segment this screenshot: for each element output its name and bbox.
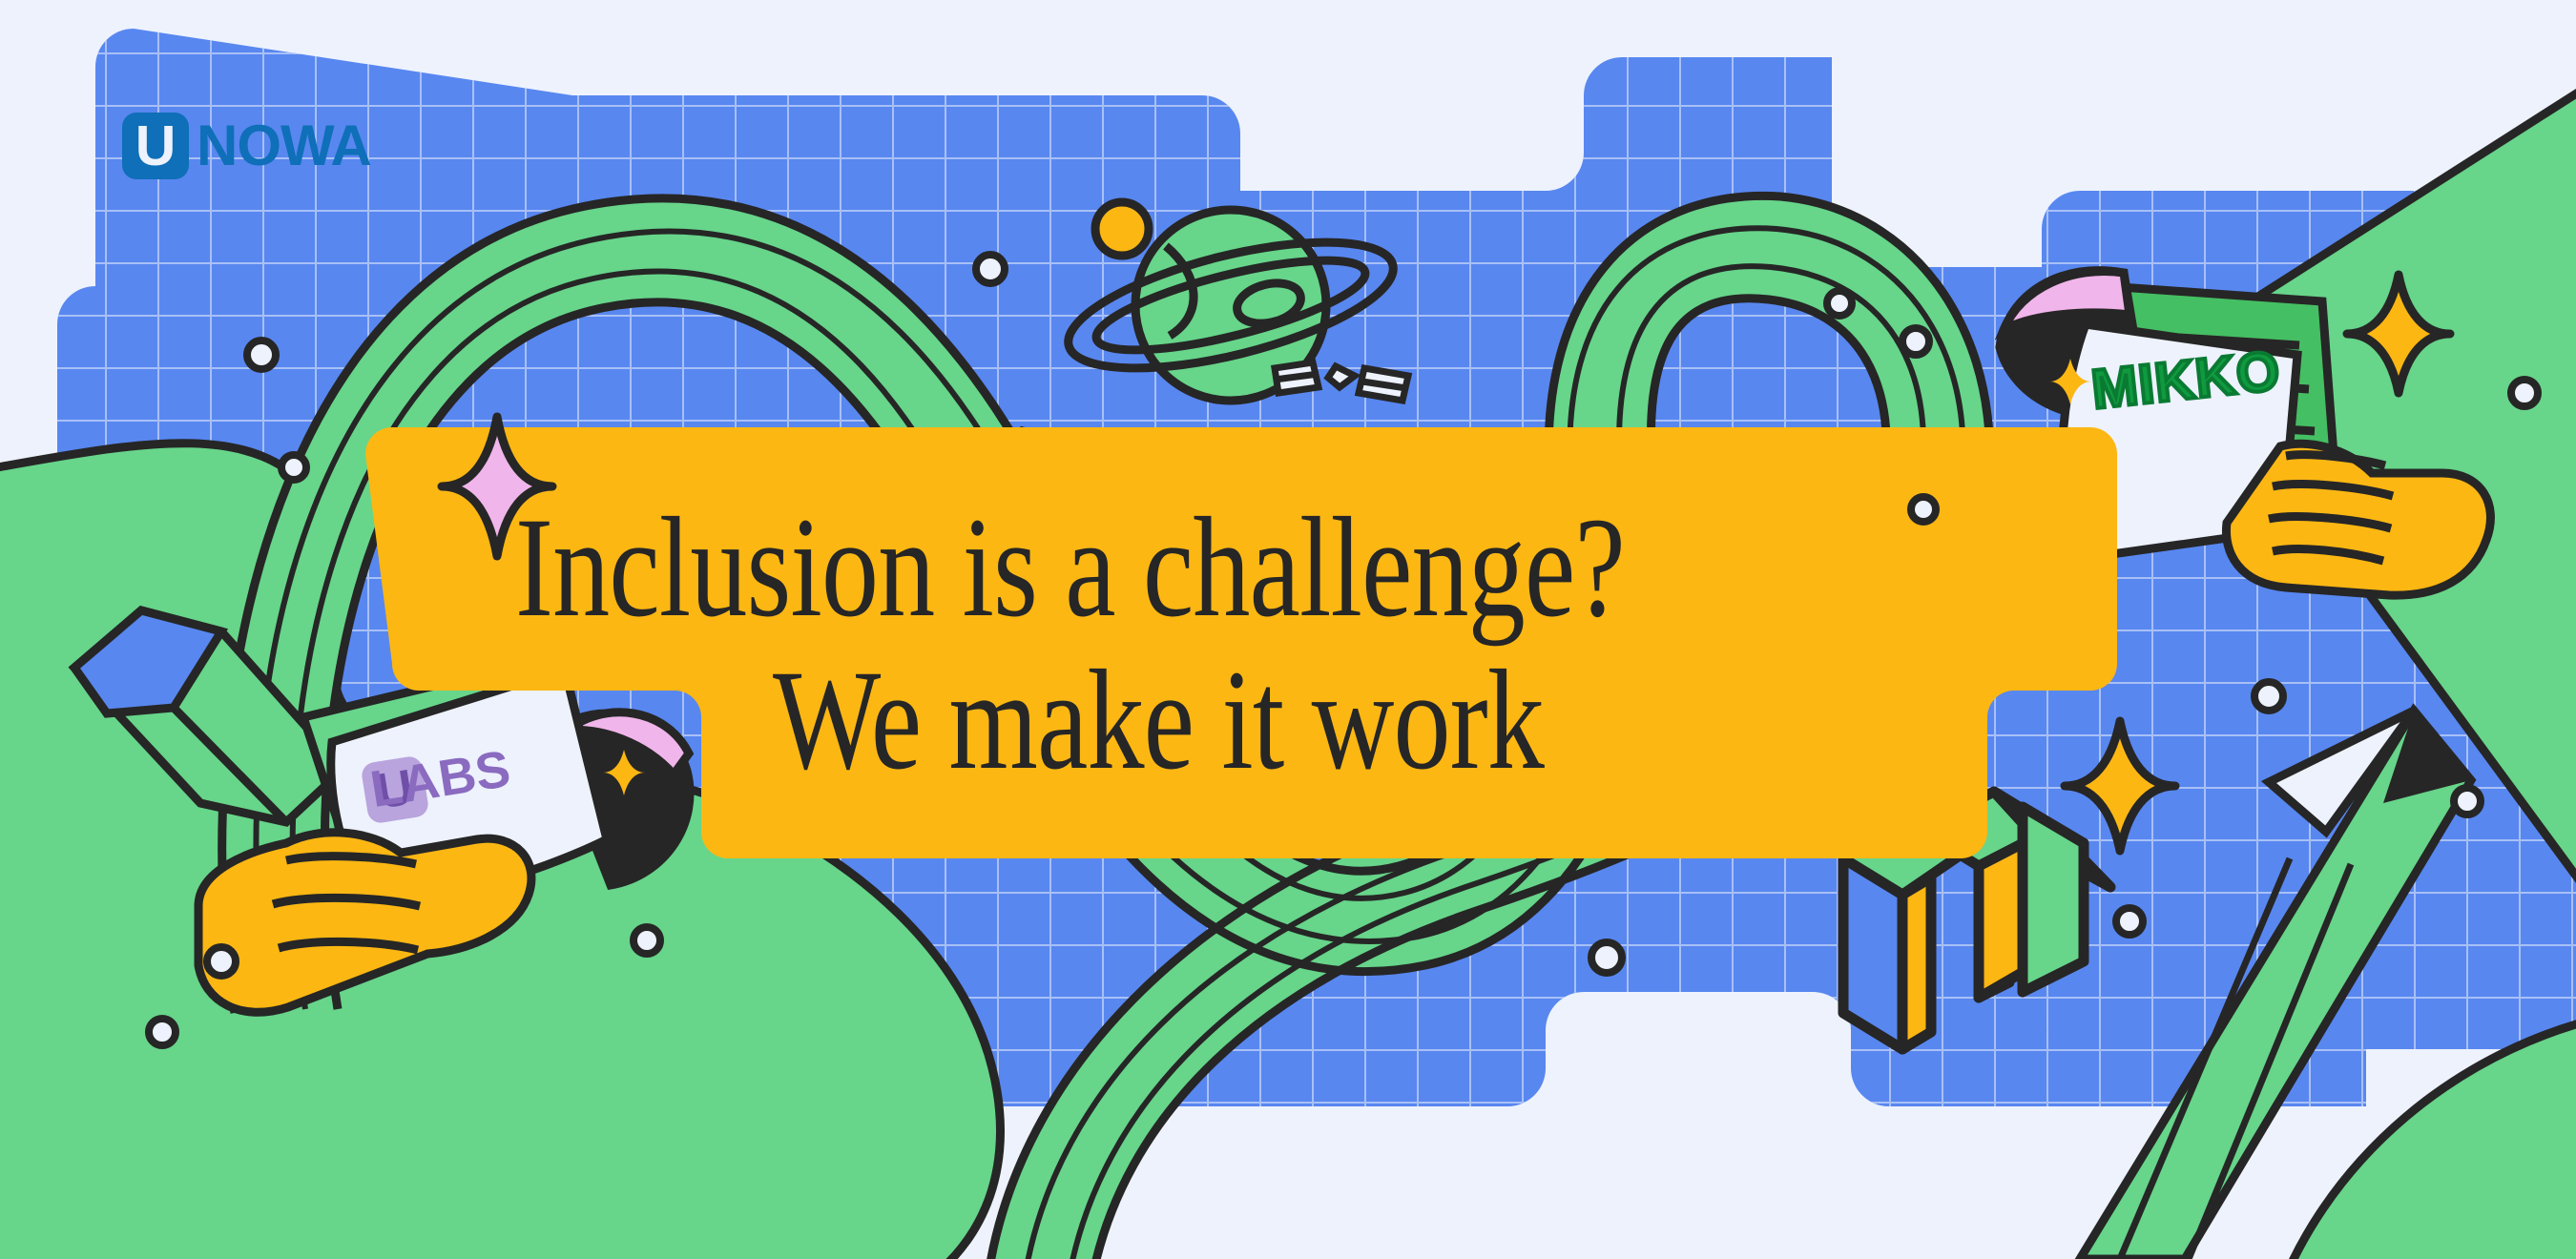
hero-illustration [0,0,2576,1259]
brand-logo[interactable]: U NOWA [122,113,371,179]
hero-banner: U NOWA Inclusion is a challenge? We make… [0,0,2576,1259]
sun-dot [1095,202,1149,256]
logo-wordmark: NOWA [197,117,371,175]
logo-mark-icon: U [122,113,189,179]
